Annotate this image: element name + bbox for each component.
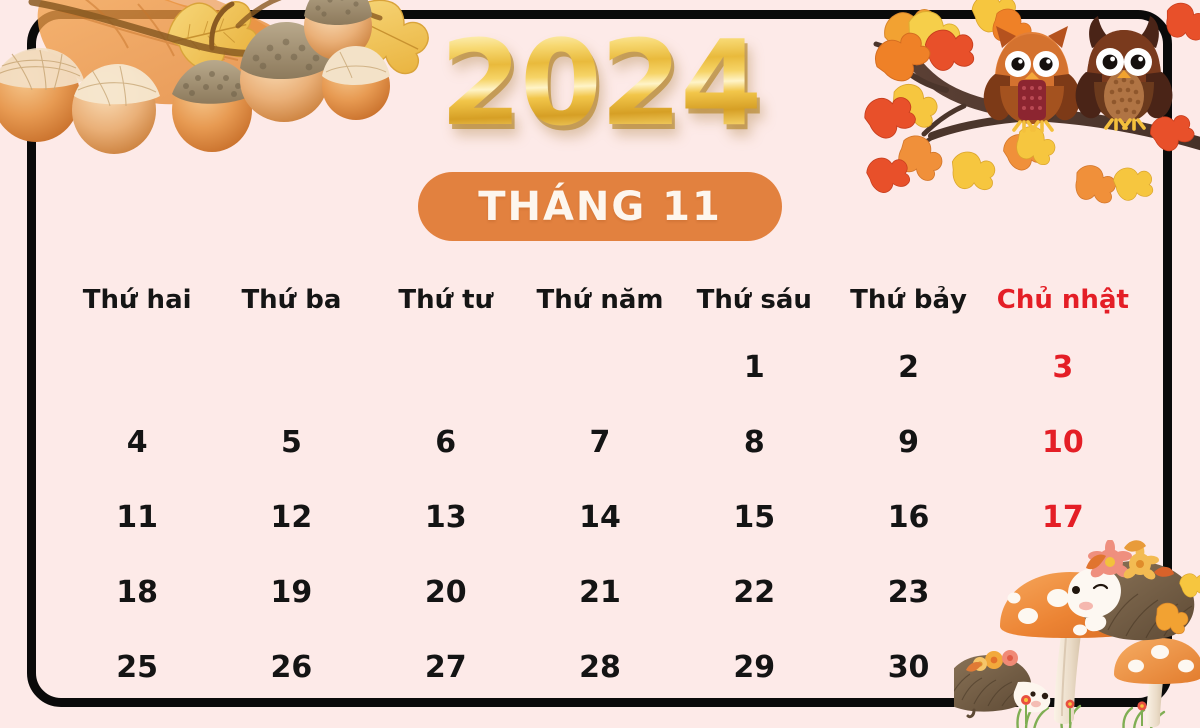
calendar-day-4[interactable]: 4: [60, 405, 214, 480]
calendar-week-row: 11121314151617: [60, 480, 1140, 555]
calendar-day-7[interactable]: 7: [523, 405, 677, 480]
calendar-day-1[interactable]: 1: [677, 330, 831, 405]
calendar-day-empty: [986, 630, 1140, 705]
calendar-day-28[interactable]: 28: [523, 630, 677, 705]
calendar-day-18[interactable]: 18: [60, 555, 214, 630]
calendar-day-19[interactable]: 19: [214, 555, 368, 630]
calendar-week-row: 18192021222324: [60, 555, 1140, 630]
calendar-week-row: 123: [60, 330, 1140, 405]
calendar-day-16[interactable]: 16: [831, 480, 985, 555]
calendar-week-row: 45678910: [60, 405, 1140, 480]
calendar-week-rows: 1234567891011121314151617181920212223242…: [60, 330, 1140, 705]
calendar-day-14[interactable]: 14: [523, 480, 677, 555]
calendar-day-8[interactable]: 8: [677, 405, 831, 480]
calendar-day-25[interactable]: 25: [60, 630, 214, 705]
calendar-day-empty: [214, 330, 368, 405]
calendar-day-empty: [369, 330, 523, 405]
month-label: THÁNG 11: [478, 184, 722, 230]
weekday-header-6: Thứ bảy: [831, 276, 985, 324]
calendar-day-5[interactable]: 5: [214, 405, 368, 480]
calendar-day-empty: [60, 330, 214, 405]
calendar-day-3[interactable]: 3: [986, 330, 1140, 405]
calendar-day-24[interactable]: 24: [986, 555, 1140, 630]
calendar-day-17[interactable]: 17: [986, 480, 1140, 555]
calendar-header: 2024 THÁNG 11: [0, 0, 1200, 260]
year-title: 2024: [434, 24, 766, 142]
calendar-week-row: 252627282930: [60, 630, 1140, 705]
month-badge: THÁNG 11: [418, 172, 782, 241]
weekday-header-row: Thứ haiThứ baThứ tưThứ nămThứ sáuThứ bảy…: [60, 276, 1140, 324]
weekday-header-5: Thứ sáu: [677, 276, 831, 324]
year-label: 2024: [434, 24, 766, 142]
calendar-day-22[interactable]: 22: [677, 555, 831, 630]
calendar-day-9[interactable]: 9: [831, 405, 985, 480]
calendar-day-11[interactable]: 11: [60, 480, 214, 555]
calendar-day-20[interactable]: 20: [369, 555, 523, 630]
calendar-day-6[interactable]: 6: [369, 405, 523, 480]
calendar-day-empty: [523, 330, 677, 405]
weekday-header-7: Chủ nhật: [986, 276, 1140, 324]
calendar-grid: Thứ haiThứ baThứ tưThứ nămThứ sáuThứ bảy…: [60, 276, 1140, 705]
weekday-header-1: Thứ hai: [60, 276, 214, 324]
calendar-day-21[interactable]: 21: [523, 555, 677, 630]
calendar-day-15[interactable]: 15: [677, 480, 831, 555]
calendar-day-13[interactable]: 13: [369, 480, 523, 555]
grass-tufts: [1017, 702, 1164, 728]
calendar-page: 2024 THÁNG 11 Thứ haiThứ baThứ tưThứ năm…: [0, 0, 1200, 728]
calendar-day-30[interactable]: 30: [831, 630, 985, 705]
calendar-day-23[interactable]: 23: [831, 555, 985, 630]
calendar-day-27[interactable]: 27: [369, 630, 523, 705]
calendar-day-10[interactable]: 10: [986, 405, 1140, 480]
weekday-header-4: Thứ năm: [523, 276, 677, 324]
calendar-day-26[interactable]: 26: [214, 630, 368, 705]
calendar-day-2[interactable]: 2: [831, 330, 985, 405]
weekday-header-3: Thứ tư: [369, 276, 523, 324]
calendar-day-29[interactable]: 29: [677, 630, 831, 705]
calendar-day-12[interactable]: 12: [214, 480, 368, 555]
weekday-header-2: Thứ ba: [214, 276, 368, 324]
